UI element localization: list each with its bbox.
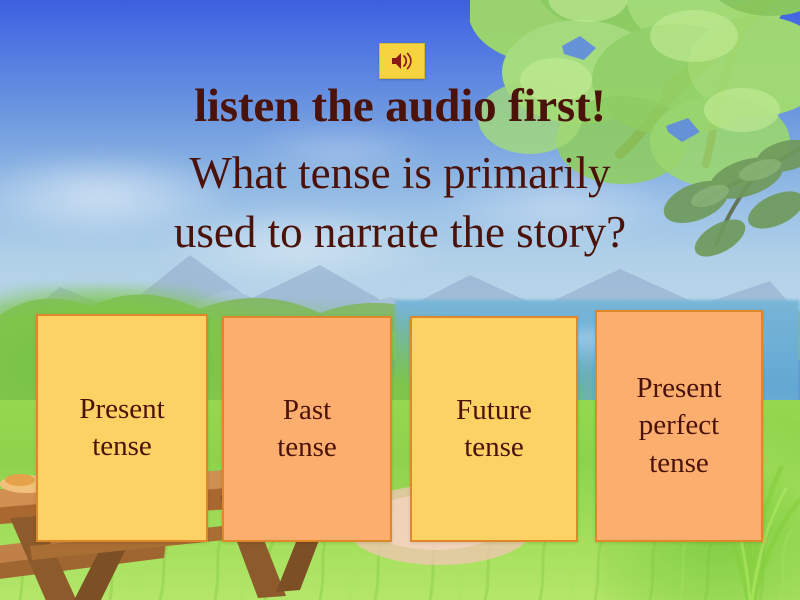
answer-label: Present perfect tense bbox=[636, 370, 721, 481]
answer-line-1: Present bbox=[636, 370, 721, 407]
answer-option-past-tense[interactable]: Past tense bbox=[222, 316, 392, 542]
answer-option-present-tense[interactable]: Present tense bbox=[36, 314, 208, 542]
answer-line-1: Present bbox=[79, 391, 164, 428]
answer-line-2: tense bbox=[79, 428, 164, 465]
answer-line-1: Past bbox=[277, 392, 337, 429]
answer-option-present-perfect-tense[interactable]: Present perfect tense bbox=[595, 310, 763, 542]
answer-line-2: perfect bbox=[636, 407, 721, 444]
answer-label: Past tense bbox=[277, 392, 337, 466]
answer-options: Present tense Past tense Future tense Pr… bbox=[0, 0, 800, 600]
answer-label: Future tense bbox=[456, 392, 532, 466]
answer-line-2: tense bbox=[277, 429, 337, 466]
answer-line-3: tense bbox=[636, 445, 721, 482]
answer-line-2: tense bbox=[456, 429, 532, 466]
slide-stage: listen the audio first! What tense is pr… bbox=[0, 0, 800, 600]
answer-line-1: Future bbox=[456, 392, 532, 429]
answer-option-future-tense[interactable]: Future tense bbox=[410, 316, 578, 542]
answer-label: Present tense bbox=[79, 391, 164, 465]
